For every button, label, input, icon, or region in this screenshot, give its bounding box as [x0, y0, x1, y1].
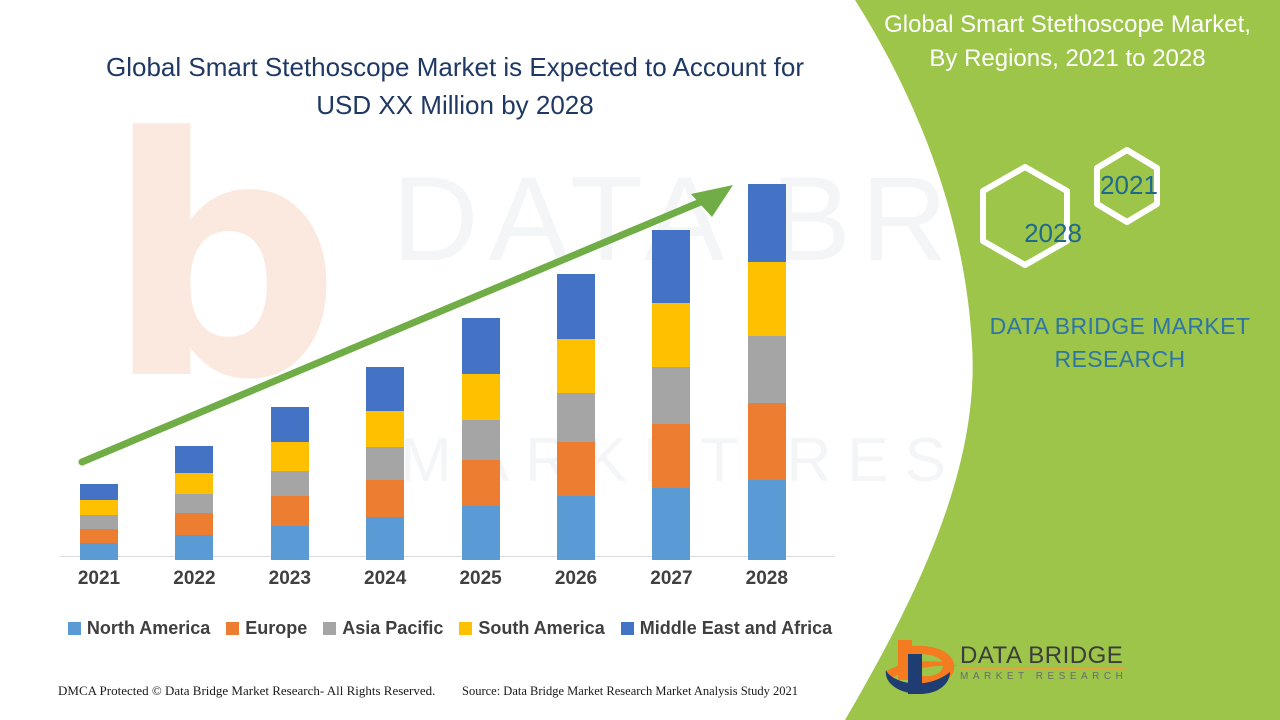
legend-item-middle-east-and-africa[interactable]: Middle East and Africa: [621, 618, 832, 639]
bar-2022: [175, 446, 213, 560]
bar-segment-europe: [366, 480, 404, 517]
bar-segment-asia-pacific: [271, 471, 309, 496]
legend-swatch-icon: [621, 622, 634, 635]
bar-segment-north-america: [271, 526, 309, 560]
logo-wordmark: DATA BRIDGE: [960, 642, 1130, 670]
bar-segment-north-america: [175, 535, 213, 560]
bar-2024: [366, 367, 404, 560]
bar-2028: [748, 184, 786, 560]
legend-swatch-icon: [68, 622, 81, 635]
hexagon-2021-label: 2021: [1093, 170, 1165, 201]
x-axis-label-2024: 2024: [355, 568, 415, 590]
bar-segment-north-america: [652, 488, 690, 560]
bar-segment-south-america: [748, 262, 786, 335]
legend-item-asia-pacific[interactable]: Asia Pacific: [323, 618, 443, 639]
legend-swatch-icon: [226, 622, 239, 635]
bar-segment-north-america: [557, 496, 595, 560]
bar-segment-middle-east-and-africa: [652, 230, 690, 302]
panel-title-line2: By Regions, 2021 to 2028: [860, 42, 1275, 76]
bar-segment-north-america: [748, 480, 786, 560]
bar-2021: [80, 484, 118, 560]
infographic-page: b DATA BRIDGE MARKET RESEARCH Global Sma…: [0, 0, 1280, 720]
bar-segment-europe: [80, 529, 118, 544]
legend-label: Middle East and Africa: [640, 618, 832, 639]
stacked-bar-chart: [55, 150, 845, 560]
bar-segment-south-america: [175, 473, 213, 495]
bar-segment-middle-east-and-africa: [557, 274, 595, 339]
bar-segment-europe: [271, 496, 309, 525]
panel-brand-line1: DATA BRIDGE MARKET: [965, 310, 1275, 343]
bar-2026: [557, 274, 595, 560]
chart-x-axis-labels: 20212022202320242025202620272028: [55, 568, 845, 598]
page-title-line1: Global Smart Stethoscope Market is Expec…: [60, 48, 850, 86]
x-axis-label-2021: 2021: [69, 568, 129, 590]
bar-2025: [462, 318, 500, 560]
bar-segment-middle-east-and-africa: [175, 446, 213, 472]
bar-segment-asia-pacific: [366, 447, 404, 479]
bar-segment-asia-pacific: [748, 336, 786, 404]
bar-segment-south-america: [652, 303, 690, 368]
legend-item-south-america[interactable]: South America: [459, 618, 604, 639]
page-title-line2: USD XX Million by 2028: [60, 86, 850, 124]
bar-segment-middle-east-and-africa: [80, 484, 118, 501]
bar-segment-asia-pacific: [557, 393, 595, 442]
logo-divider: [960, 668, 1126, 670]
footer-source: Source: Data Bridge Market Research Mark…: [462, 684, 798, 699]
bar-segment-europe: [462, 460, 500, 506]
bar-segment-europe: [748, 403, 786, 479]
bar-2023: [271, 407, 309, 560]
bar-segment-north-america: [80, 543, 118, 560]
bar-segment-south-america: [271, 442, 309, 471]
bar-segment-south-america: [462, 374, 500, 420]
chart-legend: North AmericaEuropeAsia PacificSouth Ame…: [60, 615, 840, 641]
legend-swatch-icon: [323, 622, 336, 635]
x-axis-label-2027: 2027: [641, 568, 701, 590]
x-axis-label-2023: 2023: [260, 568, 320, 590]
x-axis-label-2022: 2022: [164, 568, 224, 590]
bar-segment-middle-east-and-africa: [271, 407, 309, 441]
legend-label: South America: [478, 618, 604, 639]
panel-title: Global Smart Stethoscope Market, By Regi…: [860, 8, 1275, 76]
logo-tagline: MARKET RESEARCH: [960, 671, 1130, 682]
bar-segment-asia-pacific: [175, 494, 213, 513]
bar-2027: [652, 230, 690, 560]
panel-brand-line2: RESEARCH: [965, 343, 1275, 376]
legend-item-north-america[interactable]: North America: [68, 618, 210, 639]
bar-segment-middle-east-and-africa: [462, 318, 500, 374]
bar-segment-middle-east-and-africa: [748, 184, 786, 262]
legend-label: North America: [87, 618, 210, 639]
bar-segment-middle-east-and-africa: [366, 367, 404, 411]
legend-label: Asia Pacific: [342, 618, 443, 639]
x-axis-label-2026: 2026: [546, 568, 606, 590]
bar-segment-asia-pacific: [652, 367, 690, 424]
bar-segment-north-america: [462, 506, 500, 560]
panel-brand-name: DATA BRIDGE MARKET RESEARCH: [965, 310, 1275, 376]
hexagon-2028-label: 2028: [1013, 218, 1093, 249]
bar-segment-asia-pacific: [462, 420, 500, 460]
bar-segment-south-america: [557, 339, 595, 393]
x-axis-label-2028: 2028: [737, 568, 797, 590]
bar-segment-europe: [175, 513, 213, 535]
footer-copyright: DMCA Protected © Data Bridge Market Rese…: [58, 683, 435, 699]
bar-segment-north-america: [366, 517, 404, 560]
legend-swatch-icon: [459, 622, 472, 635]
bar-segment-south-america: [80, 500, 118, 515]
panel-title-line1: Global Smart Stethoscope Market,: [860, 8, 1275, 42]
bar-segment-asia-pacific: [80, 515, 118, 529]
legend-label: Europe: [245, 618, 307, 639]
bar-segment-europe: [652, 424, 690, 488]
page-title: Global Smart Stethoscope Market is Expec…: [60, 48, 850, 124]
hexagon-2028-shape: [983, 167, 1067, 265]
bar-segment-south-america: [366, 411, 404, 447]
bar-segment-europe: [557, 442, 595, 497]
legend-item-europe[interactable]: Europe: [226, 618, 307, 639]
x-axis-label-2025: 2025: [451, 568, 511, 590]
